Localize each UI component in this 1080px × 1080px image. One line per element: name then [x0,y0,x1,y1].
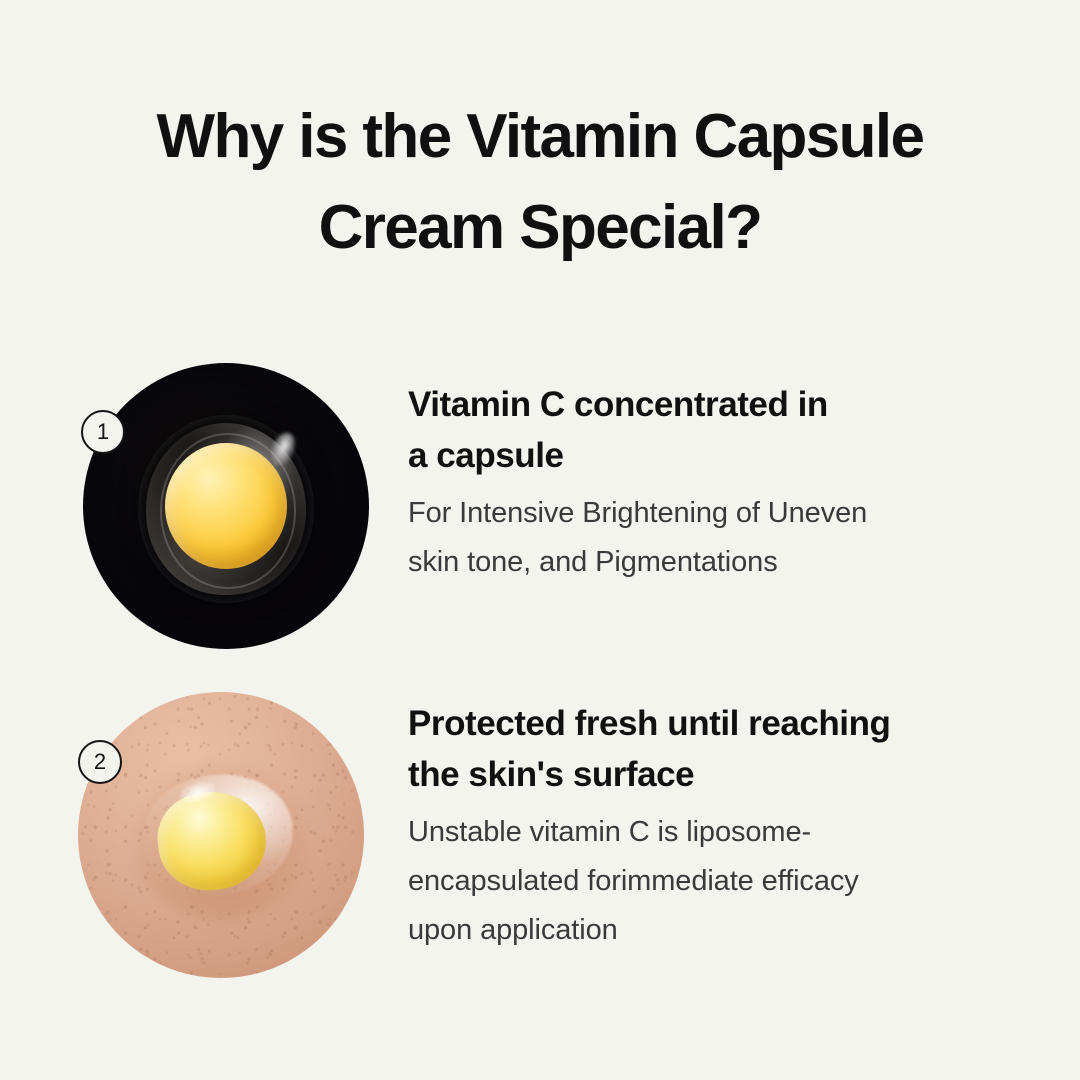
vitamin-capsule-on-black-photo [83,363,369,649]
feature-1-body-line-1: For Intensive Brightening of Uneven [408,489,1038,538]
feature-1-number-badge: 1 [81,410,125,454]
feature-1-number-label: 1 [97,421,109,443]
capsule-on-skin-photo [78,692,364,978]
feature-2-text-column: Protected fresh until reaching the skin'… [408,698,1038,954]
feature-item-2: 2 Protected fresh until reaching the ski… [0,692,1080,982]
feature-2-heading-line-1: Protected fresh until reaching [408,698,1038,749]
feature-2-number-label: 2 [94,751,106,773]
feature-1-heading-line-1: Vitamin C concentrated in [408,379,1038,430]
feature-2-image-wrap [78,692,364,978]
feature-2-number-badge: 2 [78,740,122,784]
infographic-page: Why is the Vitamin Capsule Cream Special… [0,0,1080,1080]
feature-2-heading-line-2: the skin's surface [408,749,1038,800]
feature-2-heading: Protected fresh until reaching the skin'… [408,698,1038,800]
page-title-line-2: Cream Special? [60,183,1020,274]
feature-2-body-line-1: Unstable vitamin C is liposome- [408,808,1038,857]
feature-1-body-line-2: skin tone, and Pigmentations [408,538,1038,587]
feature-item-1: 1 Vitamin C concentrated in a capsule Fo… [0,363,1080,653]
feature-2-body-line-3: upon application [408,906,1038,955]
page-title: Why is the Vitamin Capsule Cream Special… [0,92,1080,273]
capsule-yellow-core [165,443,287,569]
feature-1-heading: Vitamin C concentrated in a capsule [408,379,1038,481]
feature-1-image-wrap [83,363,369,649]
page-title-line-1: Why is the Vitamin Capsule [60,92,1020,183]
feature-1-heading-line-2: a capsule [408,430,1038,481]
feature-1-body: For Intensive Brightening of Uneven skin… [408,489,1038,586]
feature-2-body-line-2: encapsulated forimmediate efficacy [408,857,1038,906]
feature-2-body: Unstable vitamin C is liposome- encapsul… [408,808,1038,954]
feature-1-text-column: Vitamin C concentrated in a capsule For … [408,379,1038,587]
